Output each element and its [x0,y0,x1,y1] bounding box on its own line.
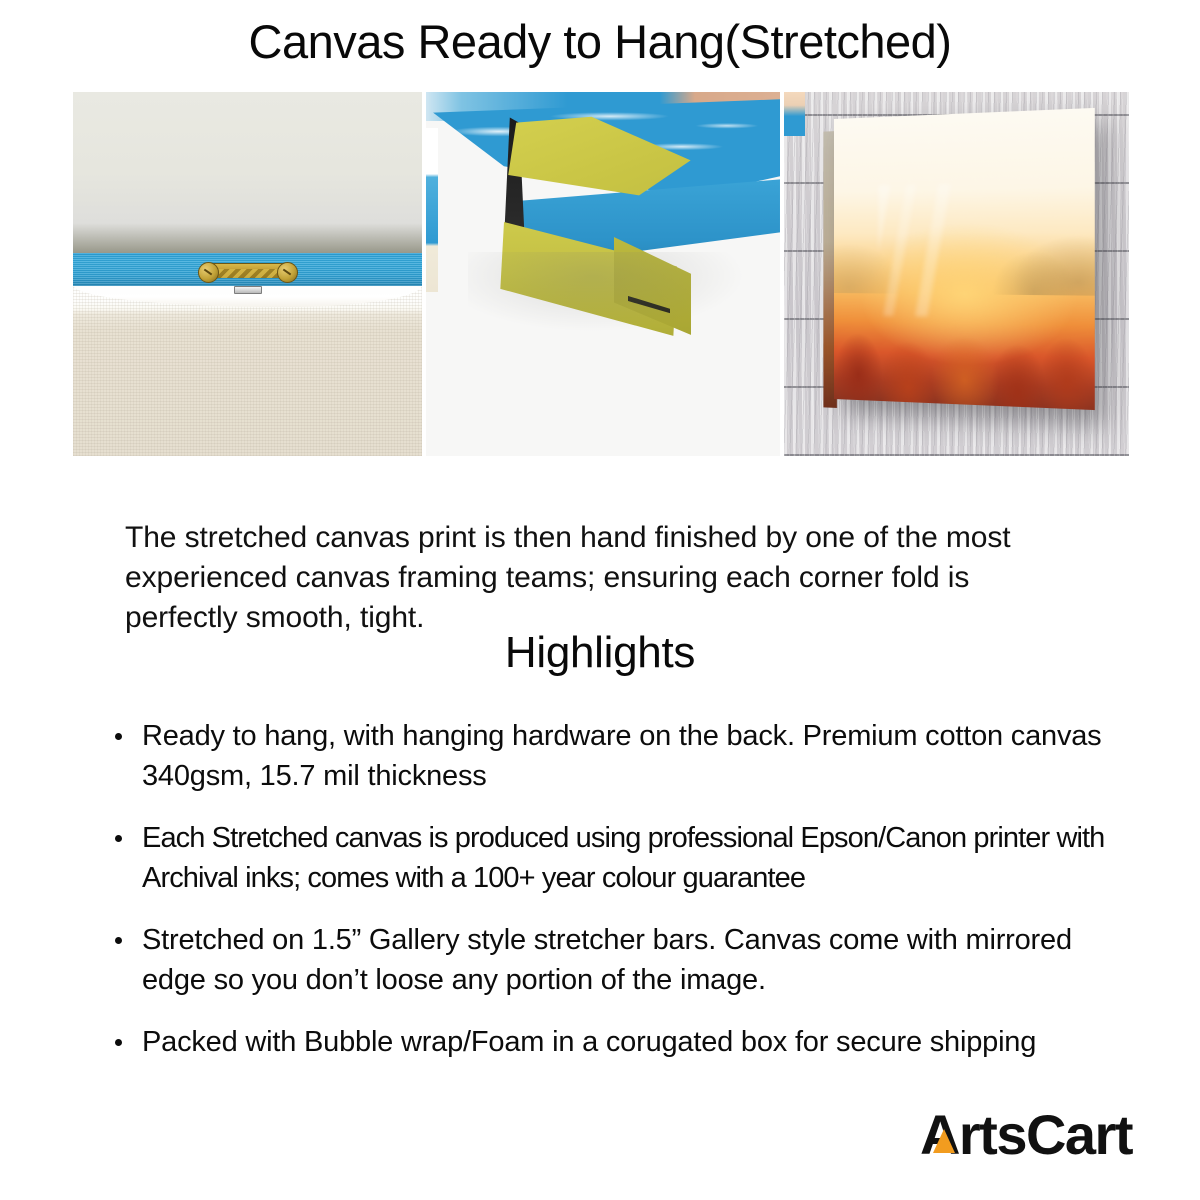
highlight-text: Packed with Bubble wrap/Foam in a coruga… [142,1026,1036,1058]
bullet-dot-icon [115,937,122,944]
highlights-heading: Highlights [0,626,1200,680]
brand-logo: ArtsCart [920,1106,1132,1164]
artwork-sun-rays [878,182,1062,320]
adjacent-panel-sliver [784,92,805,136]
bullet-dot-icon [115,733,122,740]
wall-nail [234,286,262,294]
hanger-screw-left [198,262,219,283]
photo-canvas-on-wall [784,92,1129,456]
highlight-text: Each Stretched canvas is produced using … [142,822,1104,894]
logo-triangle-icon [933,1129,955,1153]
bullet-dot-icon [115,835,122,842]
artwork-foliage [834,315,1095,410]
hung-canvas [834,108,1095,411]
photo-corner-fold-detail [426,92,780,456]
list-item: Ready to hang, with hanging hardware on … [108,716,1118,796]
hanger-screw-right [277,262,298,283]
hanging-hardware-icon [199,261,297,281]
bullet-dot-icon [115,1039,122,1046]
list-item: Each Stretched canvas is produced using … [108,818,1118,898]
corner-photo-left-sliver [426,128,438,292]
photo-canvas-back-hardware [73,92,422,456]
intro-paragraph: The stretched canvas print is then hand … [125,518,1085,638]
page-title: Canvas Ready to Hang(Stretched) [0,14,1200,70]
list-item: Stretched on 1.5” Gallery style stretche… [108,920,1118,1000]
sunset-landscape-artwork [834,108,1095,411]
hanger-sawtooth [213,269,283,278]
canvas-back-surface [73,285,422,456]
product-photo-strip [73,92,1129,456]
highlight-text: Stretched on 1.5” Gallery style stretche… [142,924,1072,996]
highlights-list: Ready to hang, with hanging hardware on … [108,716,1118,1084]
highlight-text: Ready to hang, with hanging hardware on … [142,720,1101,792]
list-item: Packed with Bubble wrap/Foam in a coruga… [108,1022,1118,1062]
corner-drop-shadow [468,252,744,332]
